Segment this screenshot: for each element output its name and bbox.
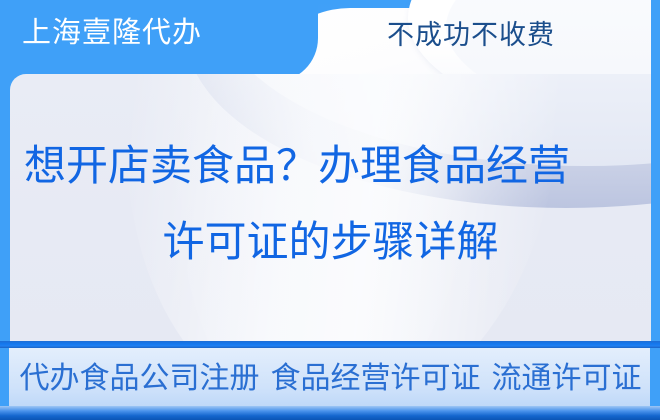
tagline: 不成功不收费 [336,18,606,52]
footer-bottom-gradient [0,406,660,420]
brand-name: 上海壹隆代办 [22,16,202,50]
footer-keyword-2: 食品经营许可证 [271,362,481,396]
footer-keyword-1: 代办食品公司注册 [20,362,260,396]
footer-keyword-3: 流通许可证 [492,362,642,396]
promo-banner: 上海壹隆代办 不成功不收费 想开店卖食品？办理食品经营 许可证的步骤详解 代办食… [0,0,660,420]
footer-keyword-list: 代办食品公司注册 食品经营许可证 流通许可证 [10,355,651,403]
left-blue-edge [0,74,10,342]
headline-line-1: 想开店卖食品？办理食品经营 [10,128,651,204]
divider-bar [0,341,660,348]
headline-line-2: 许可证的步骤详解 [10,204,651,280]
headline: 想开店卖食品？办理食品经营 许可证的步骤详解 [10,128,651,280]
right-blue-edge [651,0,660,348]
